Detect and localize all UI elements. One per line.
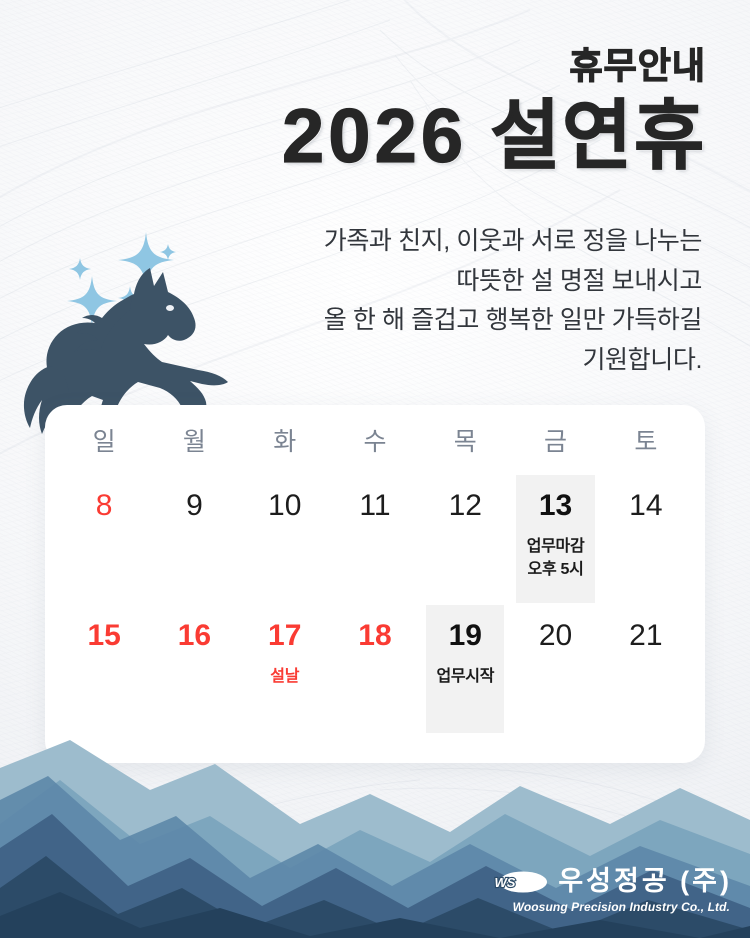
- calendar-day-9: 9: [149, 475, 239, 605]
- calendar-day-21: 21: [601, 605, 691, 735]
- day-note: 업무시작: [436, 665, 494, 688]
- logo-row: WS 우성정공 (주): [489, 868, 732, 895]
- weekday-header-1: 월: [149, 405, 239, 475]
- calendar-day-19: 19업무시작: [420, 605, 510, 735]
- calendar-day-18: 18: [330, 605, 420, 735]
- day-number: 18: [358, 621, 391, 651]
- day-number: 9: [186, 491, 203, 521]
- message-line: 올 한 해 즐겁고 행복한 일만 가득하길: [182, 301, 702, 341]
- day-note: 설날: [270, 665, 299, 688]
- logo-name-en: Woosung Precision Industry Co., Ltd.: [513, 900, 730, 914]
- weekday-header-4: 목: [420, 405, 510, 475]
- calendar-card: 일월화수목금토8910111213업무마감오후 5시14151617설날1819…: [45, 405, 705, 763]
- calendar-day-8: 8: [59, 475, 149, 605]
- calendar-day-13: 13업무마감오후 5시: [510, 475, 600, 605]
- calendar-day-16: 16: [149, 605, 239, 735]
- poster-root: 휴무안내 2026 설연휴 가족과 친지, 이웃과 서로 정을 나누는 따뜻한 …: [0, 0, 750, 938]
- day-number: 16: [178, 621, 211, 651]
- title-year: 2026: [282, 94, 467, 179]
- day-number: 14: [629, 491, 662, 521]
- day-number: 10: [268, 491, 301, 521]
- title-main: 설연휴: [490, 94, 706, 179]
- calendar-day-17: 17설날: [240, 605, 330, 735]
- weekday-header-0: 일: [59, 405, 149, 475]
- day-number: 19: [449, 621, 482, 651]
- logo-name-ko: 우성정공 (주): [558, 868, 732, 895]
- svg-text:WS: WS: [495, 875, 516, 890]
- day-number: 11: [359, 491, 390, 521]
- greeting-message: 가족과 친지, 이웃과 서로 정을 나누는 따뜻한 설 명절 보내시고 올 한 …: [182, 222, 702, 380]
- company-logo: WS 우성정공 (주) Woosung Precision Industry C…: [489, 868, 732, 914]
- calendar-day-14: 14: [601, 475, 691, 605]
- day-number: 12: [449, 491, 482, 521]
- day-number: 15: [87, 621, 120, 651]
- message-line: 따뜻한 설 명절 보내시고: [182, 262, 702, 302]
- kicker-text: 휴무안내: [46, 48, 706, 84]
- message-line: 기원합니다.: [182, 341, 702, 381]
- weekday-header-3: 수: [330, 405, 420, 475]
- day-number: 21: [629, 621, 662, 651]
- calendar-day-20: 20: [510, 605, 600, 735]
- calendar-day-12: 12: [420, 475, 510, 605]
- heading-block: 휴무안내 2026 설연휴: [46, 48, 706, 176]
- weekday-header-5: 금: [510, 405, 600, 475]
- weekday-header-2: 화: [240, 405, 330, 475]
- day-number: 13: [539, 491, 572, 521]
- calendar-grid: 일월화수목금토8910111213업무마감오후 5시14151617설날1819…: [45, 405, 705, 763]
- weekday-header-6: 토: [601, 405, 691, 475]
- day-number: 17: [268, 621, 301, 651]
- day-number: 8: [96, 491, 113, 521]
- page-title: 2026 설연휴: [46, 98, 706, 176]
- ws-mark-icon: WS: [489, 869, 549, 895]
- calendar-day-11: 11: [330, 475, 420, 605]
- calendar-day-15: 15: [59, 605, 149, 735]
- day-note: 업무마감오후 5시: [527, 535, 585, 581]
- calendar-day-10: 10: [240, 475, 330, 605]
- day-number: 20: [539, 621, 572, 651]
- message-line: 가족과 친지, 이웃과 서로 정을 나누는: [182, 222, 702, 262]
